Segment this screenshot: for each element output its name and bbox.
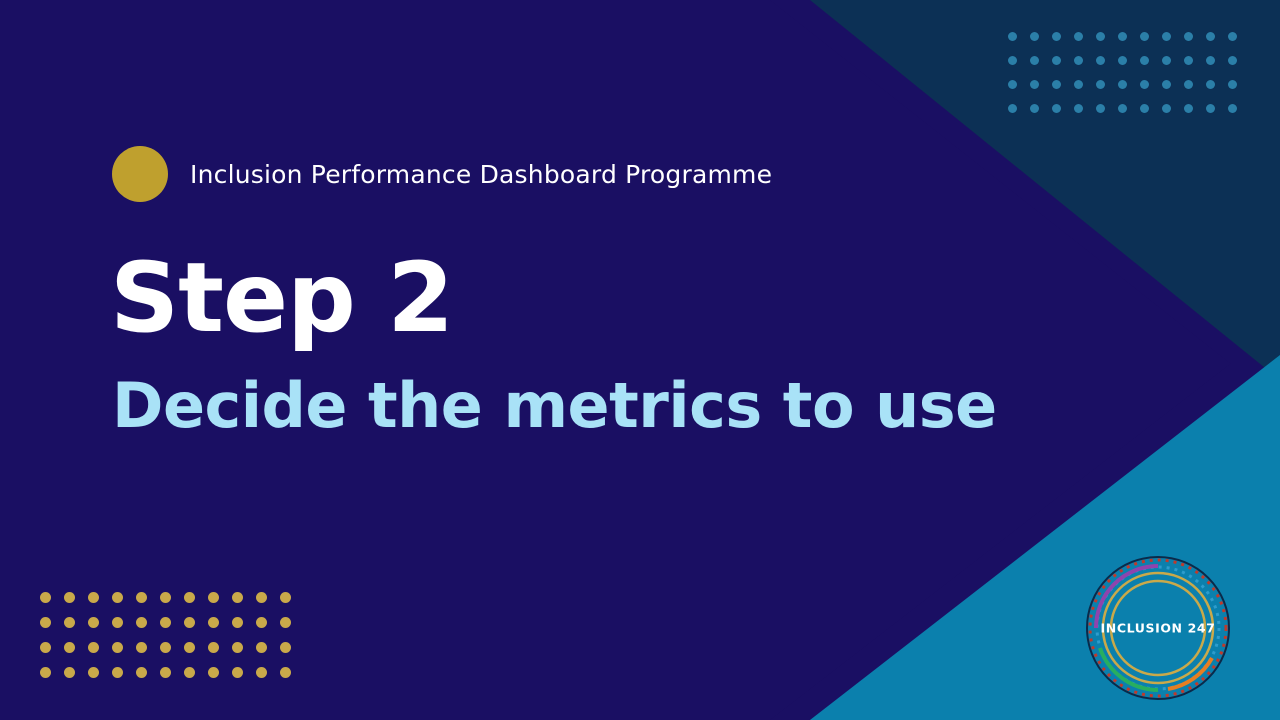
slide-canvas: Inclusion Performance Dashboard Programm… (0, 0, 1280, 720)
decor-dot (208, 667, 219, 678)
dot-grid-bottom-left (40, 592, 304, 692)
decor-dot (1206, 56, 1215, 65)
decor-dot (112, 592, 123, 603)
decor-dot (1030, 56, 1039, 65)
dot-grid-top-right (1008, 32, 1250, 128)
decor-dot (1030, 32, 1039, 41)
decor-dot (40, 667, 51, 678)
decor-dot (112, 667, 123, 678)
decor-dot (160, 592, 171, 603)
decor-dot (1074, 56, 1083, 65)
decor-dot (232, 667, 243, 678)
decor-dot (1206, 80, 1215, 89)
decor-dot (1184, 32, 1193, 41)
decor-dot (1228, 104, 1237, 113)
decor-dot (256, 617, 267, 628)
decor-dot (1008, 104, 1017, 113)
decor-dot (1052, 80, 1061, 89)
decor-dot (1074, 32, 1083, 41)
decor-dot (1030, 104, 1039, 113)
decor-dot (112, 617, 123, 628)
decor-dot (208, 617, 219, 628)
decor-dot (40, 592, 51, 603)
decor-dot (232, 617, 243, 628)
decor-dot (256, 667, 267, 678)
decor-dot (88, 667, 99, 678)
decor-dot (160, 667, 171, 678)
decor-dot (88, 642, 99, 653)
decor-dot (1096, 56, 1105, 65)
decor-dot (1118, 32, 1127, 41)
decor-dot (1228, 80, 1237, 89)
decor-dot (40, 617, 51, 628)
decor-dot (136, 667, 147, 678)
decor-dot (1074, 80, 1083, 89)
decor-dot (1184, 104, 1193, 113)
gold-circle-icon (112, 146, 168, 202)
decor-dot (1140, 80, 1149, 89)
decor-dot (88, 592, 99, 603)
decor-dot (88, 617, 99, 628)
decor-dot (1096, 32, 1105, 41)
decor-dot (1184, 56, 1193, 65)
decor-dot (1184, 80, 1193, 89)
decor-dot (1206, 104, 1215, 113)
decor-dot (1052, 104, 1061, 113)
decor-dot (160, 617, 171, 628)
decor-dot (1074, 104, 1083, 113)
decor-dot (1118, 104, 1127, 113)
decor-dot (1118, 80, 1127, 89)
decor-dot (280, 642, 291, 653)
decor-dot (208, 642, 219, 653)
decor-dot (184, 642, 195, 653)
decor-dot (1096, 80, 1105, 89)
logo-text: INCLUSION 247 (1084, 621, 1232, 636)
decor-dot (1008, 32, 1017, 41)
decor-dot (280, 617, 291, 628)
decor-dot (280, 667, 291, 678)
decor-dot (232, 642, 243, 653)
decor-dot (136, 642, 147, 653)
decor-dot (136, 592, 147, 603)
decor-dot (1096, 104, 1105, 113)
inclusion247-logo: INCLUSION 247 (1084, 554, 1232, 702)
decor-dot (1052, 32, 1061, 41)
step-title: Step 2 (110, 248, 453, 349)
decor-dot (184, 592, 195, 603)
decor-dot (232, 592, 243, 603)
decor-dot (64, 617, 75, 628)
decor-dot (1052, 56, 1061, 65)
decor-dot (1140, 56, 1149, 65)
decor-dot (256, 592, 267, 603)
decor-dot (1140, 32, 1149, 41)
decor-dot (112, 642, 123, 653)
decor-dot (1162, 32, 1171, 41)
decor-dot (1008, 80, 1017, 89)
decor-dot (136, 617, 147, 628)
decor-dot (280, 592, 291, 603)
step-subtitle: Decide the metrics to use (112, 372, 997, 440)
programme-header: Inclusion Performance Dashboard Programm… (112, 146, 772, 202)
decor-dot (256, 642, 267, 653)
decor-dot (184, 667, 195, 678)
decor-dot (1228, 56, 1237, 65)
decor-dot (1030, 80, 1039, 89)
decor-dot (40, 642, 51, 653)
decor-dot (64, 592, 75, 603)
decor-dot (1206, 32, 1215, 41)
decor-dot (1118, 56, 1127, 65)
decor-dot (1140, 104, 1149, 113)
decor-dot (1228, 32, 1237, 41)
decor-dot (1162, 56, 1171, 65)
decor-dot (160, 642, 171, 653)
programme-title: Inclusion Performance Dashboard Programm… (190, 160, 772, 189)
decor-dot (1162, 104, 1171, 113)
decor-dot (208, 592, 219, 603)
decor-dot (64, 667, 75, 678)
decor-dot (184, 617, 195, 628)
decor-dot (1162, 80, 1171, 89)
decor-dot (1008, 56, 1017, 65)
decor-dot (64, 642, 75, 653)
